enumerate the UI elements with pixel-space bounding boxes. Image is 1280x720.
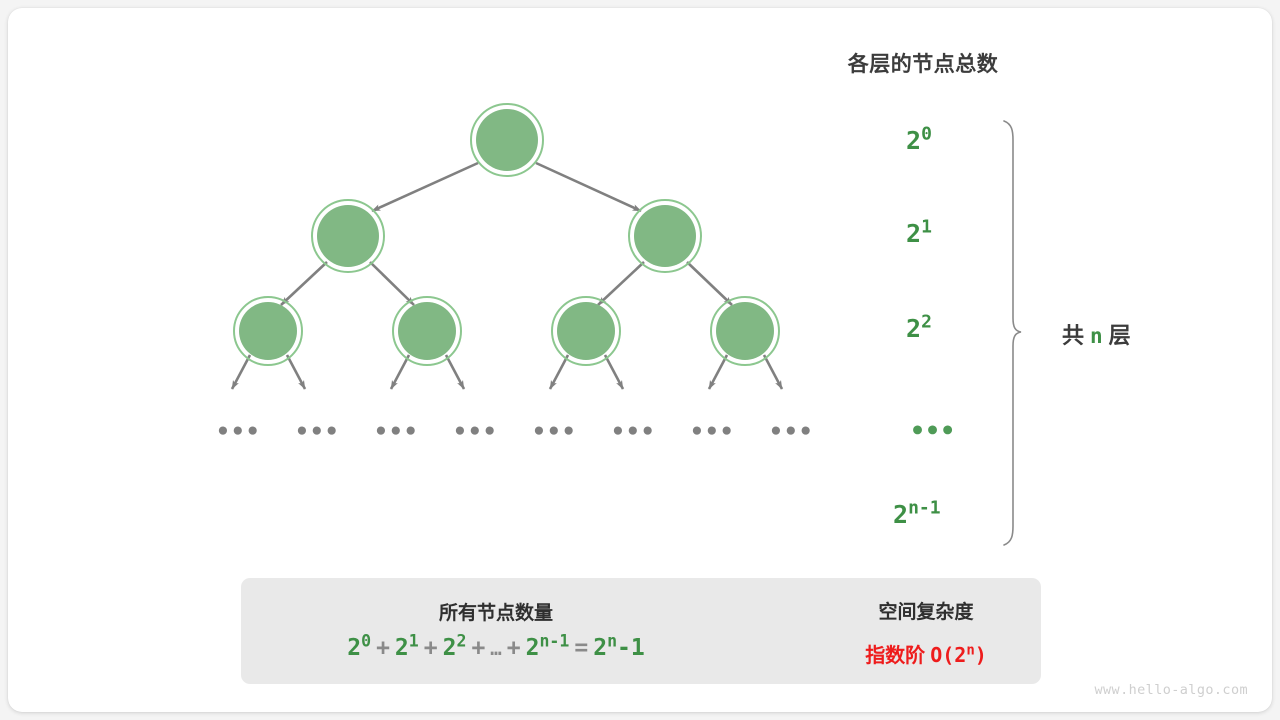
watermark: www.hello-algo.com <box>1095 682 1249 698</box>
column-header: 各层的节点总数 <box>0 48 1280 78</box>
tree-ellipsis-2: ••• <box>295 419 340 445</box>
formula-term-last: 2n-1 <box>526 635 570 661</box>
formula-ellipsis: … <box>490 638 501 660</box>
tree-ellipsis-5: ••• <box>532 419 577 445</box>
level-label-last: 2n-1 <box>893 500 941 529</box>
total-layers-prefix: 共 <box>1062 323 1084 348</box>
tree-ellipsis-1: ••• <box>216 419 261 445</box>
level-label-2: 22 <box>906 314 932 343</box>
formula-plus-3: + <box>466 635 490 661</box>
tree-ellipsis-6: ••• <box>611 419 656 445</box>
total-layers-label: 共n层 <box>1062 318 1131 350</box>
tree-ellipsis-7: ••• <box>690 419 735 445</box>
formula-result: 2n-1 <box>593 635 645 661</box>
summary-left-title: 所有节点数量 <box>281 598 711 625</box>
column-header-label: 各层的节点总数 <box>848 48 999 78</box>
formula-plus-2: + <box>419 635 443 661</box>
tree-ellipsis-4: ••• <box>453 419 498 445</box>
formula-equals: = <box>569 635 593 661</box>
diagram-canvas: 各层的节点总数 20 21 22 ••• 2n-1 共n层 ••• ••• ••… <box>0 0 1280 720</box>
level-label-ellipsis: ••• <box>910 416 955 445</box>
level-label-1: 21 <box>906 219 932 248</box>
tree-ellipsis-8: ••• <box>769 419 814 445</box>
total-layers-variable: n <box>1084 324 1109 348</box>
total-layers-suffix: 层 <box>1109 323 1131 348</box>
complexity-value: 指数阶O(2n) <box>816 639 1036 668</box>
summary-right-title: 空间复杂度 <box>826 597 1026 624</box>
level-label-0: 20 <box>906 126 932 155</box>
summary-formula: 20+21+22+…+2n-1=2n-1 <box>261 635 731 661</box>
formula-plus-1: + <box>371 635 395 661</box>
formula-term-1: 21 <box>395 635 419 661</box>
formula-plus-4: + <box>502 635 526 661</box>
complexity-notation: O(2n) <box>925 643 987 667</box>
tree-ellipsis-3: ••• <box>374 419 419 445</box>
formula-term-2: 22 <box>443 635 467 661</box>
formula-term-0: 20 <box>347 635 371 661</box>
complexity-prefix: 指数阶 <box>865 645 925 667</box>
